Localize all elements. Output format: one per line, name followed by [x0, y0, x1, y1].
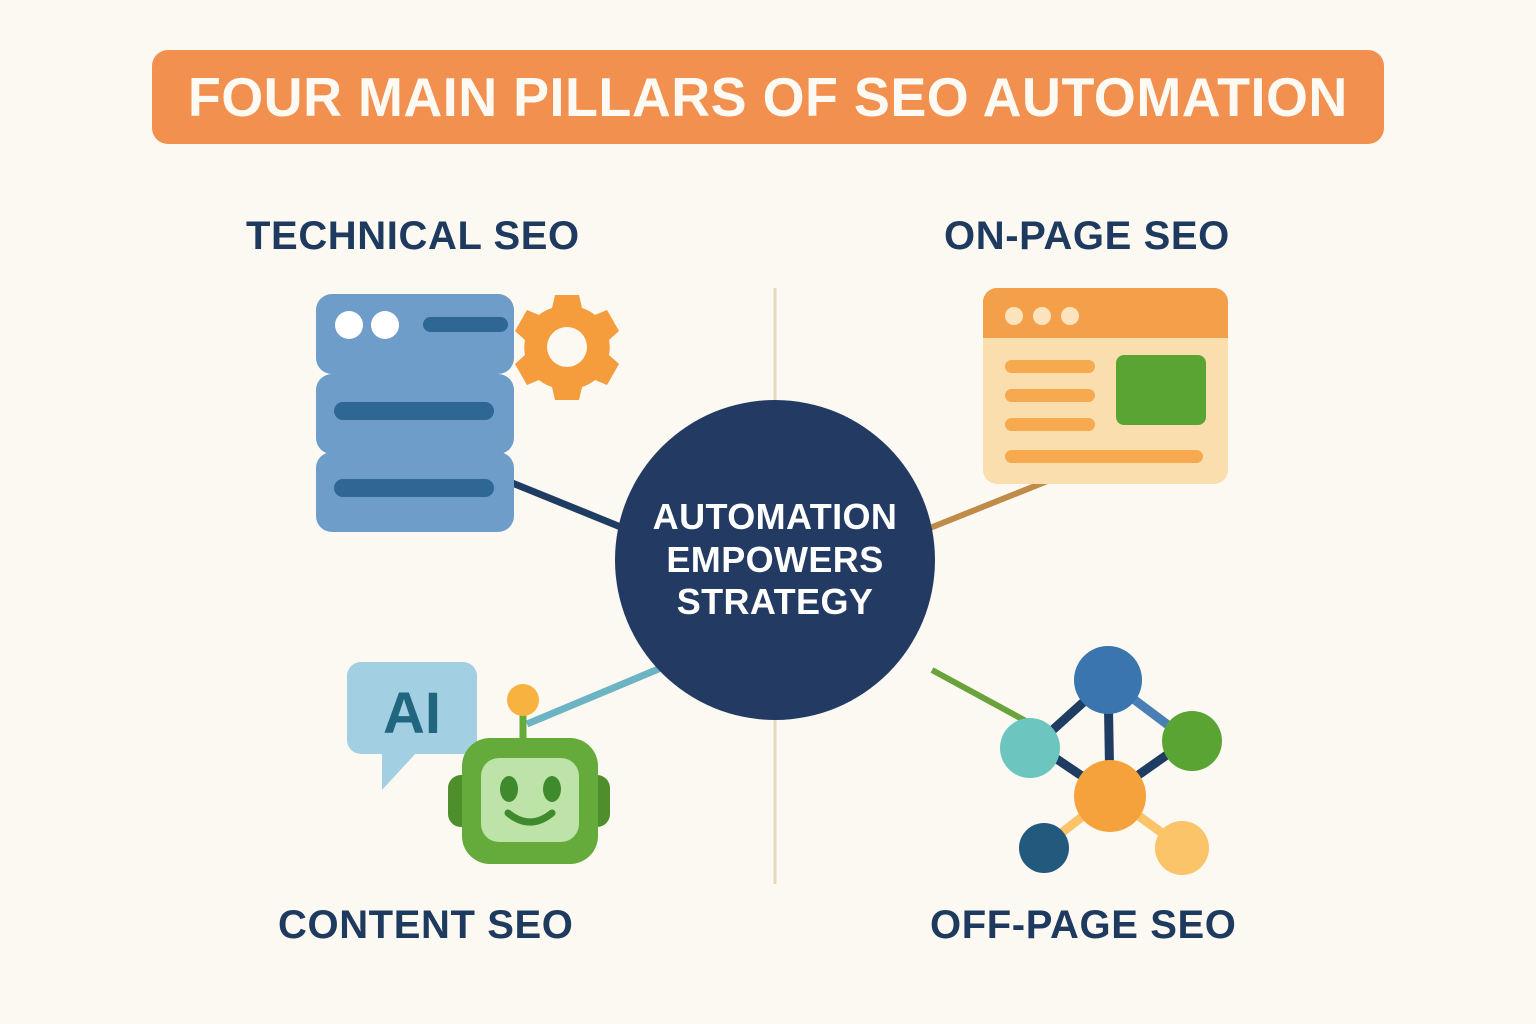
browser-image-block	[1116, 355, 1206, 425]
browser-window-icon	[983, 288, 1228, 484]
gear-icon	[515, 295, 619, 400]
connector-on-page-seo	[930, 478, 1055, 528]
browser-text-line-1	[1005, 360, 1095, 373]
node-bottomleft-dark	[1019, 823, 1069, 873]
robot-eye-right	[543, 776, 561, 802]
node-right-green	[1162, 711, 1222, 771]
node-center-orange	[1074, 760, 1146, 832]
node-left-teal	[1000, 718, 1060, 778]
server-led-1	[335, 311, 363, 339]
network-nodes-icon	[1000, 646, 1222, 875]
browser-text-line-3	[1005, 418, 1095, 431]
node-bottomright-gold	[1155, 821, 1209, 875]
hub-line-2: EMPOWERS	[666, 539, 883, 581]
robot-antenna-ball	[507, 684, 539, 716]
server-bar-top	[423, 317, 508, 332]
browser-text-line-4	[1005, 450, 1203, 463]
infographic-canvas: FOUR MAIN PILLARS OF SEO AUTOMATION TECH…	[0, 0, 1536, 1024]
ai-robot-chat-icon: AI	[347, 662, 610, 864]
browser-dot-1	[1005, 307, 1023, 325]
connector-content-seo	[527, 660, 680, 724]
server-led-2	[371, 311, 399, 339]
hub-line-3: STRATEGY	[677, 581, 874, 623]
browser-dot-2	[1033, 307, 1051, 325]
server-stack-gear-icon	[316, 294, 619, 532]
center-hub: AUTOMATION EMPOWERS STRATEGY	[615, 400, 935, 720]
node-top-blue	[1074, 646, 1142, 714]
connector-off-page-seo	[932, 670, 1035, 726]
hub-line-1: AUTOMATION	[653, 496, 898, 538]
server-bar-bottom	[334, 479, 494, 497]
ai-speech-bubble: AI	[347, 662, 477, 790]
robot-face-panel	[481, 758, 579, 842]
robot-eye-left	[500, 776, 518, 802]
ai-bubble-text: AI	[383, 681, 441, 746]
browser-text-line-2	[1005, 389, 1095, 402]
browser-dot-3	[1061, 307, 1079, 325]
server-bar-middle	[334, 402, 494, 420]
